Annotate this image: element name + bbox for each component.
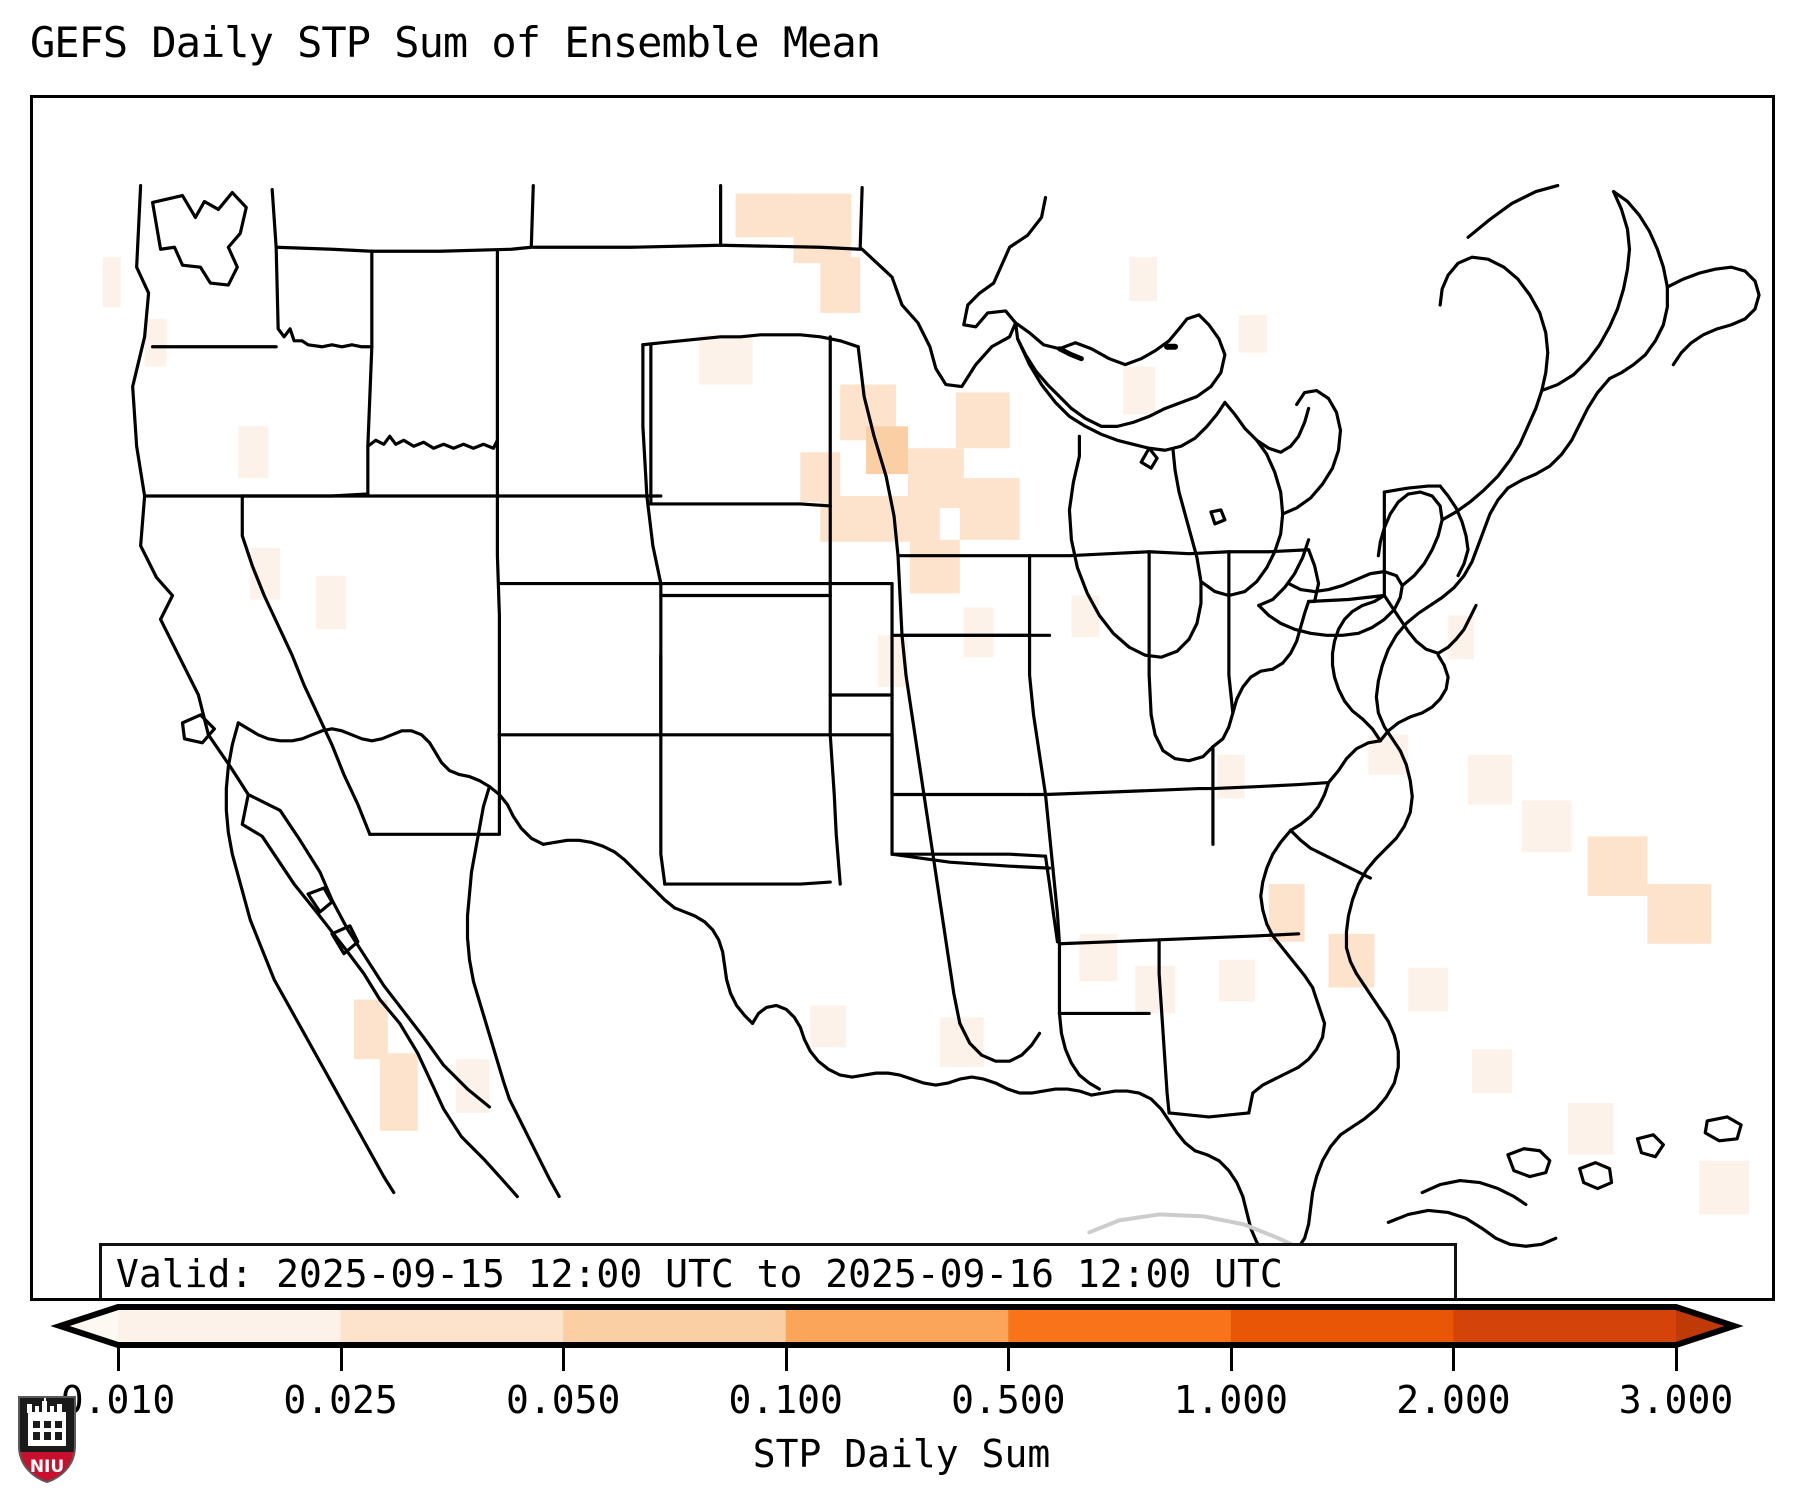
colorbar-tick <box>785 1345 788 1371</box>
lake-superior <box>1016 315 1225 426</box>
colorbar-tick-label: 0.500 <box>951 1378 1065 1422</box>
ca-nv-border <box>242 496 370 834</box>
stp-cell <box>1699 1161 1749 1215</box>
ga-fl-east <box>1249 988 1325 1113</box>
niu-logo: NIU <box>16 1394 78 1484</box>
stp-cell <box>316 576 346 630</box>
page-title: GEFS Daily STP Sum of Ensemble Mean <box>30 18 880 67</box>
stp-cell <box>145 319 167 367</box>
stp-cell <box>1129 257 1157 301</box>
in-oh-border <box>1229 552 1233 713</box>
stp-cell <box>1408 968 1448 1012</box>
colorbar-segment <box>341 1307 564 1345</box>
texas-gulf <box>675 908 753 1023</box>
lake-huron-east <box>1283 391 1341 514</box>
nova-scotia-area <box>1667 267 1759 365</box>
gulf-coast <box>753 1005 1092 1095</box>
colorbar-tick-label: 3.000 <box>1619 1378 1733 1422</box>
stp-cell <box>238 426 268 478</box>
stp-cell <box>1135 966 1175 1014</box>
straits-mackinac <box>1225 402 1309 452</box>
mt-wy-sd-line <box>651 504 830 506</box>
pacific-coast <box>133 186 518 1197</box>
bahamas-a <box>1508 1149 1550 1177</box>
stp-cell <box>1217 755 1245 799</box>
ut-nv-border <box>497 440 499 735</box>
bahamas-d <box>1705 1117 1741 1141</box>
colorbar-segment <box>1231 1307 1454 1345</box>
colorbar-tick-label: 2.000 <box>1396 1378 1510 1422</box>
mexico-east-lower <box>509 1099 559 1197</box>
stp-cell <box>908 448 964 508</box>
minnesota-ontario-border <box>862 198 1045 387</box>
us-mexico-border <box>238 723 543 844</box>
mid-atlantic-coast <box>1376 488 1508 751</box>
stp-cell <box>960 478 1020 540</box>
oh-pa-corner <box>1309 550 1319 602</box>
nm-tx-border <box>665 882 830 884</box>
beaver-island <box>1141 448 1157 468</box>
nc-sc-border <box>1291 830 1371 878</box>
texas-coast-south <box>543 840 675 908</box>
geography-outlines <box>133 186 1759 1263</box>
stp-cell <box>800 452 840 502</box>
stp-cell <box>1468 755 1512 805</box>
stp-cell <box>820 257 860 313</box>
stp-cell <box>1647 884 1711 944</box>
colorbar-tick <box>1230 1345 1233 1371</box>
stp-cell <box>1568 1103 1614 1155</box>
colorbar-title: STP Daily Sum <box>0 1432 1803 1476</box>
stp-cell <box>1219 960 1255 1002</box>
mexico-west-coast <box>226 723 393 1193</box>
colorbar-ticks <box>0 1345 1803 1375</box>
id-wa-or-border <box>368 251 372 446</box>
colorbar-tick-label: 0.100 <box>729 1378 843 1422</box>
stp-cell <box>1472 1049 1512 1093</box>
nm-az-border <box>661 735 665 884</box>
vancouver-island <box>153 193 247 286</box>
colorbar-segment <box>786 1307 1009 1345</box>
colorbar-tick <box>1452 1345 1455 1371</box>
annotation-box: Valid: 2025-09-15 12:00 UTC to 2025-09-1… <box>99 1243 1457 1301</box>
colorbar-tick <box>340 1345 343 1371</box>
map-panel: Valid: 2025-09-15 12:00 UTC to 2025-09-1… <box>30 95 1775 1301</box>
upper-peninsula-south <box>1018 339 1225 450</box>
wa-or-border <box>276 247 372 347</box>
in-il-border <box>1149 552 1151 715</box>
nc-sc-border-nw <box>1291 783 1329 831</box>
isle-royale <box>1059 349 1081 359</box>
id-mt-wy-border <box>368 251 498 494</box>
us-canada-border-west <box>272 186 533 252</box>
cuba-main <box>1388 1210 1555 1246</box>
lake-ontario-stlawrence <box>1440 257 1548 520</box>
wv-va-border <box>1333 596 1385 741</box>
colorbar-segment <box>1453 1307 1676 1345</box>
stp-cell <box>1448 615 1474 659</box>
stp-cell <box>793 194 851 264</box>
lake-erie <box>1259 572 1403 636</box>
wi-il-border <box>1030 552 1150 556</box>
niu-wordmark: NIU <box>30 1457 64 1477</box>
colorbar-tick-label: 0.050 <box>506 1378 620 1422</box>
colorbar-segment <box>118 1307 341 1345</box>
stp-cell <box>1239 315 1267 353</box>
cuba-north <box>1422 1181 1526 1205</box>
va-md-chesapeake <box>1380 653 1448 741</box>
colorbar-segment <box>563 1307 786 1345</box>
stp-cell <box>910 540 960 594</box>
la-coast-north <box>1059 1013 1099 1089</box>
stp-cell <box>699 335 753 385</box>
stp-cell <box>810 1005 846 1047</box>
bahamas-b <box>1580 1163 1612 1189</box>
mi-in-oh-line <box>1149 550 1308 554</box>
stp-cell <box>1071 596 1099 638</box>
florida-atlantic <box>1340 974 1398 1135</box>
stp-cell <box>354 999 388 1059</box>
ohio-river-mid <box>1213 669 1273 747</box>
ny-ct-line <box>1440 486 1468 576</box>
stp-cell <box>103 257 121 307</box>
colorbar-tick-label: 0.025 <box>283 1378 397 1422</box>
gulf-of-california-east <box>248 795 489 1107</box>
ok-tx-panhandle <box>830 735 840 884</box>
ky-tn-border <box>1046 789 1213 795</box>
maine-north <box>1610 192 1668 379</box>
valid-time-text: Valid: 2025-09-15 12:00 UTC to 2025-09-1… <box>116 1252 1283 1296</box>
colorbar-tick <box>117 1345 120 1371</box>
colorbar-tick-label: 1.000 <box>1174 1378 1288 1422</box>
colorbar-segments <box>60 1307 1734 1345</box>
colorbar-tick <box>1675 1345 1678 1371</box>
colorbar-tick <box>562 1345 565 1371</box>
conus-map <box>33 98 1772 1298</box>
ottawa-river <box>1468 186 1558 238</box>
il-mo-river <box>1030 635 1046 794</box>
colorbar-tick-labels: 0.0100.0250.0500.1000.5001.0002.0003.000 <box>0 1378 1803 1428</box>
stp-cell <box>1123 367 1155 415</box>
colorbar-tick <box>1007 1345 1010 1371</box>
stp-cell <box>380 1053 418 1131</box>
stp-cell <box>964 607 994 657</box>
stp-cell <box>1588 836 1648 896</box>
bahamas-c <box>1637 1135 1663 1157</box>
stp-cell <box>736 194 794 238</box>
border-sask <box>533 186 720 248</box>
florida-gulf <box>1091 1091 1195 1151</box>
stp-cell <box>956 393 1010 449</box>
pa-ny-top <box>1384 486 1440 492</box>
colorbar-segment <box>1008 1307 1231 1345</box>
stp-cell <box>456 1059 490 1113</box>
ohio-river-west <box>1151 715 1213 761</box>
ohio-river-east <box>1273 601 1309 669</box>
stp-cell <box>1522 800 1572 852</box>
quebec-border <box>1542 192 1630 391</box>
fl-ga-border <box>1169 1113 1249 1117</box>
huron-island <box>1211 510 1225 524</box>
